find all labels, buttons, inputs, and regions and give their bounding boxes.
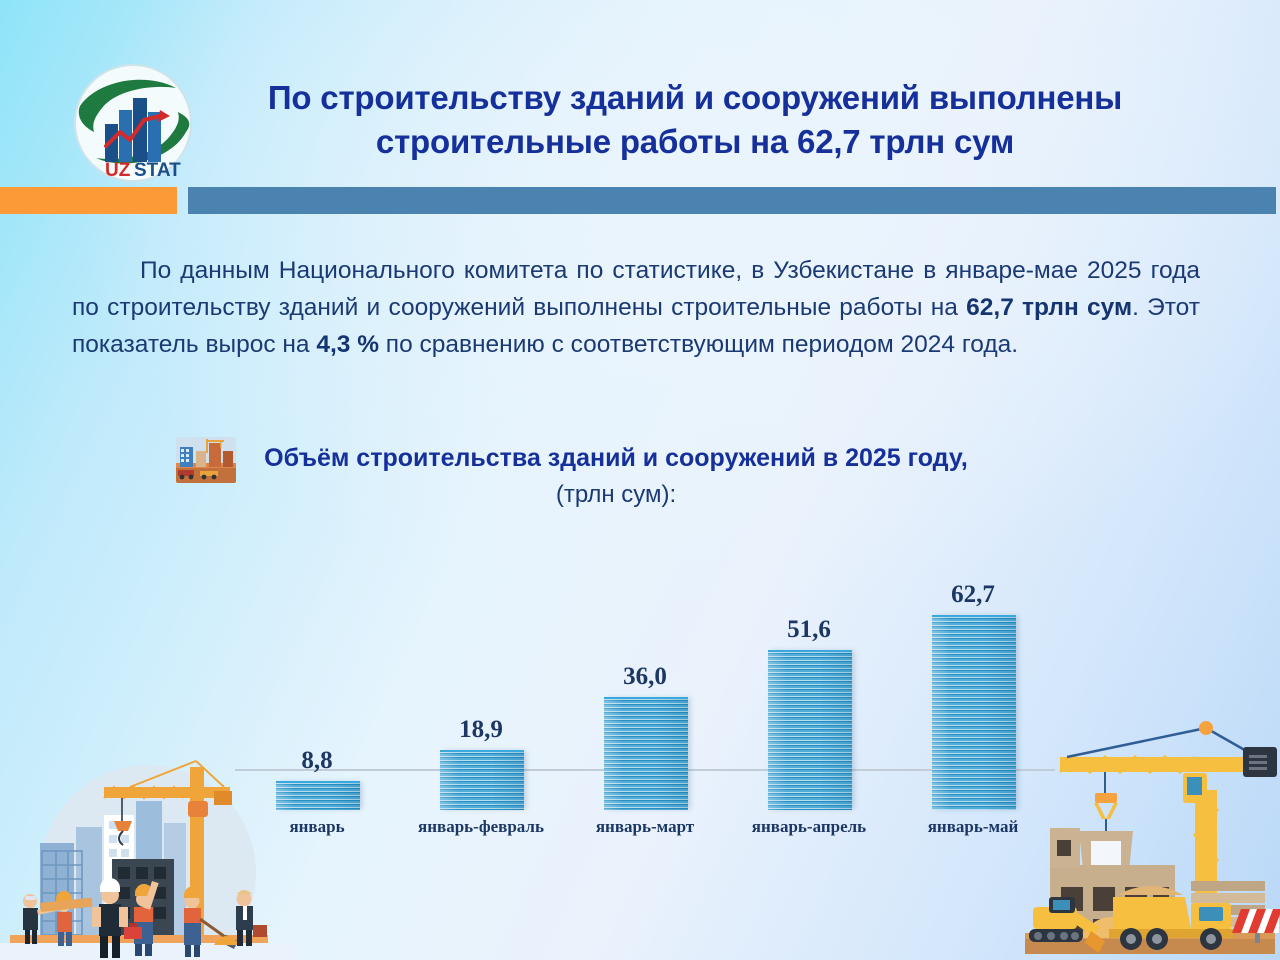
logo-stat-text: STAT: [134, 160, 181, 181]
paragraph-bold-percent: 4,3 %: [316, 331, 379, 358]
chart-bar[interactable]: [604, 697, 688, 810]
chart-heading: Объём строительства зданий и сооружений …: [176, 440, 1056, 514]
bar-chart: 8,8январь18,9январь-февраль36,0январь-ма…: [235, 555, 1055, 810]
bar-value-label: 18,9: [399, 716, 563, 744]
uzstat-logo: UZ STAT: [72, 62, 194, 184]
bar-value-label: 36,0: [563, 663, 727, 691]
bar-category-label: январь-апрель: [727, 817, 891, 837]
page-title: По строительству зданий и сооружений вып…: [190, 76, 1200, 164]
chart-heading-line1: Объём строительства зданий и сооружений …: [176, 440, 1056, 476]
bar-group: 18,9январь-февраль: [399, 595, 563, 810]
divider-orange-segment: [0, 187, 177, 214]
bar-category-label: январь-март: [563, 817, 727, 837]
paragraph-bold-amount: 62,7 трлн сум: [966, 294, 1132, 321]
bar-group: 51,6январь-апрель: [727, 595, 891, 810]
bar-group: 36,0январь-март: [563, 595, 727, 810]
bar-category-label: январь-февраль: [399, 817, 563, 837]
logo-uz-text: UZ: [105, 160, 131, 181]
infographic-slide: UZ STAT По строительству зданий и сооруж…: [0, 0, 1280, 960]
chart-bar[interactable]: [932, 615, 1016, 810]
divider-blue-segment: [188, 187, 1276, 214]
construction-workers-illustration: [0, 755, 300, 960]
chart-heading-line2: (трлн сум):: [176, 476, 1056, 514]
bar-value-label: 51,6: [727, 616, 891, 644]
paragraph-text-3: по сравнению с соответствующим периодом …: [379, 331, 1018, 358]
chart-bar[interactable]: [768, 650, 852, 810]
chart-bar[interactable]: [440, 750, 524, 810]
bar-value-label: 62,7: [891, 581, 1055, 609]
crane-excavator-truck-illustration: [1005, 695, 1280, 960]
body-paragraph: По данным Национального комитета по стат…: [72, 252, 1200, 363]
